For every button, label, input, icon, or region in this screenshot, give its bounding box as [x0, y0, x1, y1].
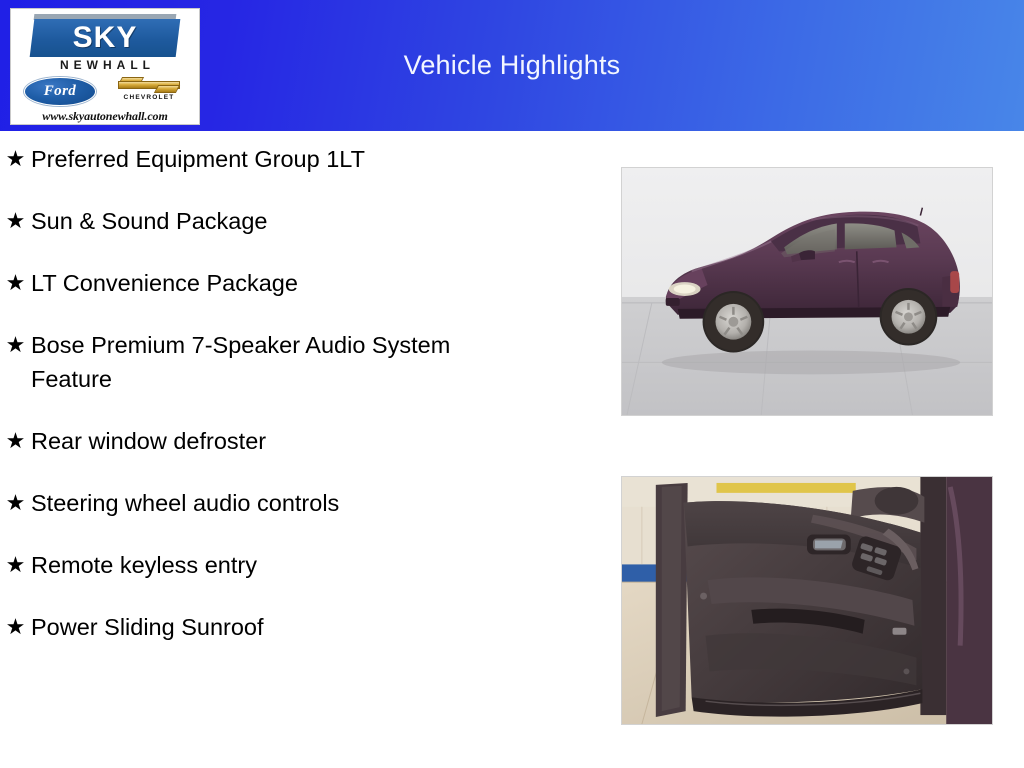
star-bullet-icon: ★ — [0, 204, 31, 238]
star-bullet-icon: ★ — [0, 548, 31, 582]
highlight-item: ★Remote keyless entry — [0, 548, 600, 582]
highlight-item-label: Remote keyless entry — [31, 548, 257, 582]
dealer-location-label: NEWHALL — [55, 58, 155, 72]
vehicle-interior-door-photo[interactable] — [621, 476, 993, 725]
ford-logo-icon: Ford — [24, 77, 96, 106]
star-bullet-icon: ★ — [0, 142, 31, 176]
chevrolet-logo-icon: CHEVROLET — [112, 76, 186, 106]
chevrolet-label: CHEVROLET — [124, 94, 175, 101]
highlight-item-label: Steering wheel audio controls — [31, 486, 339, 520]
highlight-item: ★LT Convenience Package — [0, 266, 600, 300]
highlight-item-label: Rear window defroster — [31, 424, 266, 458]
highlight-item: ★Power Sliding Sunroof — [0, 610, 600, 644]
highlight-item-label: Bose Premium 7-Speaker Audio System Feat… — [31, 328, 481, 396]
dealer-logo[interactable]: SKY NEWHALL Ford CHEVROLET www.skyautone… — [10, 8, 200, 125]
vehicle-highlights-list: ★Preferred Equipment Group 1LT★Sun & Sou… — [0, 142, 600, 672]
star-bullet-icon: ★ — [0, 424, 31, 458]
highlight-item-label: Power Sliding Sunroof — [31, 610, 264, 644]
star-bullet-icon: ★ — [0, 266, 31, 300]
highlight-item-label: LT Convenience Package — [31, 266, 298, 300]
sky-brand-mark: SKY — [30, 14, 180, 55]
sky-brand-label: SKY — [30, 19, 180, 57]
highlight-item: ★Preferred Equipment Group 1LT — [0, 142, 600, 176]
star-bullet-icon: ★ — [0, 328, 31, 362]
highlight-item: ★Bose Premium 7-Speaker Audio System Fea… — [0, 328, 600, 396]
exterior-photo-graphic — [622, 168, 992, 415]
vehicle-exterior-photo[interactable] — [621, 167, 993, 416]
dealer-website-url[interactable]: www.skyautonewhall.com — [42, 109, 167, 124]
highlight-item-label: Sun & Sound Package — [31, 204, 267, 238]
highlight-item: ★Sun & Sound Package — [0, 204, 600, 238]
front-wheel — [703, 291, 765, 353]
star-bullet-icon: ★ — [0, 610, 31, 644]
ford-label: Ford — [44, 83, 76, 100]
rear-wheel — [880, 288, 938, 346]
highlight-item: ★Rear window defroster — [0, 424, 600, 458]
interior-photo-graphic — [622, 477, 992, 724]
highlight-item-label: Preferred Equipment Group 1LT — [31, 142, 365, 176]
chevrolet-bowtie-icon — [118, 76, 180, 93]
highlight-item: ★Steering wheel audio controls — [0, 486, 600, 520]
franchise-badges: Ford CHEVROLET — [16, 76, 194, 106]
star-bullet-icon: ★ — [0, 486, 31, 520]
bowtie-right-wing — [154, 85, 180, 93]
